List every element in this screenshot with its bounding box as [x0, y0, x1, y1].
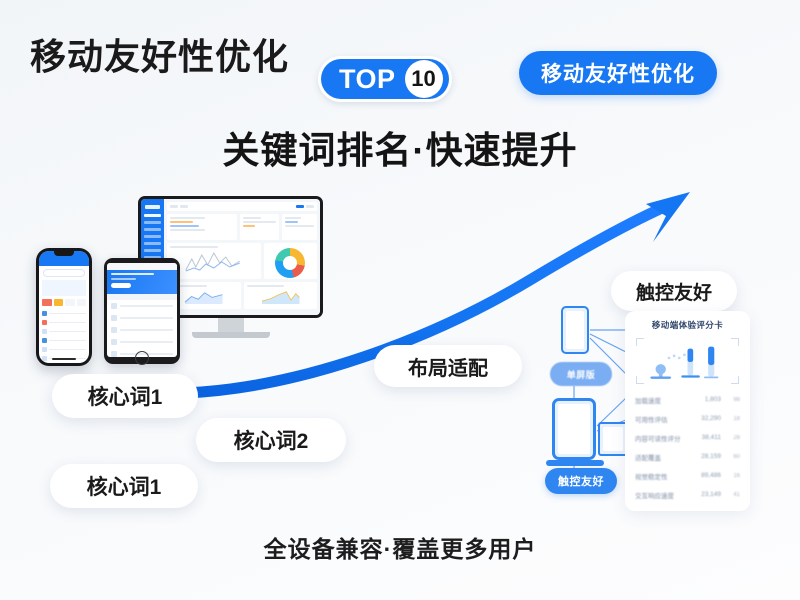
dashboard-card — [240, 214, 278, 240]
scorecard-row-value: 23,149 — [701, 491, 721, 498]
scorecard-row: 内容可读性评分 38,411 28 — [634, 428, 741, 447]
footer-tagline: 全设备兼容·覆盖更多用户 — [0, 530, 800, 564]
scorecard-row-label: 适配覆盖 — [635, 452, 697, 462]
illustration-phone-large — [552, 398, 596, 460]
scorecard-row-label: 视觉稳定性 — [635, 471, 697, 481]
illustration-tablet-screen — [603, 427, 623, 451]
scorecard-row-pct: 60 — [725, 454, 740, 460]
dashboard-area-chart — [244, 282, 318, 309]
tablet-banner — [107, 270, 177, 294]
phone-search-bar — [43, 269, 85, 277]
sidebar-nav-item — [144, 214, 161, 217]
phone-device — [36, 248, 92, 366]
tablet-list-item — [107, 324, 177, 336]
scorecard-row: 可用性评估 32,290 18 — [634, 409, 741, 428]
tablet-list-item — [107, 312, 177, 324]
dashboard-donut-chart — [264, 243, 317, 279]
scorecard-row: 视觉稳定性 89,486 16 — [634, 466, 741, 485]
sidebar-nav-item — [144, 249, 161, 252]
tablet-device — [104, 258, 180, 364]
phone-promo-banner — [42, 280, 86, 296]
top-badge-word: TOP — [339, 64, 396, 95]
scorecard-row-pct: 41 — [725, 492, 740, 498]
scorecard-row-pct: 16 — [725, 473, 740, 479]
top-badge-circle: 10 — [405, 60, 443, 98]
keyword-pill-core1-bottom[interactable]: 核心词1 — [50, 464, 198, 508]
sidebar-nav-item — [144, 235, 161, 238]
scorecard-row-value: 38,411 — [702, 434, 721, 441]
illustration-phone-small — [561, 306, 589, 354]
keyword-pill-core1-top[interactable]: 核心词1 — [52, 374, 198, 418]
line-chart-svg — [170, 250, 258, 272]
feature-pill-layout[interactable]: 布局适配 — [374, 345, 522, 387]
phone-chip — [54, 299, 64, 306]
scorecard-title: 移动端体验评分卡 — [634, 319, 741, 331]
scorecard-row-label: 内容可读性评分 — [635, 433, 698, 443]
illustration-pill-split: 单屏版 — [550, 362, 612, 386]
dashboard-card-row — [167, 282, 317, 309]
topbar-item — [306, 205, 314, 208]
donut-chart — [275, 248, 305, 278]
topbar-item — [180, 205, 188, 208]
phone-list-item — [39, 309, 89, 318]
phone-screen — [39, 251, 89, 363]
scorecard-row-label: 加载速度 — [635, 395, 701, 405]
phone-notch — [54, 251, 74, 256]
tablet-list-item — [107, 300, 177, 312]
scorecard-rows: 加载速度 1,803 98 可用性评估 32,290 18 内容可读性评分 38… — [634, 390, 741, 504]
device-cluster — [28, 196, 328, 366]
sidebar-nav-item — [144, 242, 161, 245]
phone-list-item — [39, 318, 89, 327]
phone-chip-row — [39, 296, 89, 309]
illustration-phone-screen — [558, 404, 590, 454]
dashboard-topbar — [167, 202, 317, 211]
scorecard-row: 交互响应速度 23,149 41 — [634, 485, 741, 504]
mobile-scorecard: 移动端体验评分卡 — [625, 311, 750, 511]
phone-list-item — [39, 336, 89, 345]
tablet-statusbar — [107, 263, 177, 270]
dashboard-card — [282, 214, 317, 240]
dashboard-card-row — [167, 243, 317, 279]
phone-chip — [42, 299, 52, 306]
sidebar-nav-item — [144, 221, 161, 224]
bar-chart-svg — [636, 338, 739, 384]
scorecard-row-value: 1,803 — [705, 396, 721, 403]
tablet-screen — [107, 263, 177, 357]
scorecard-row-pct: 98 — [725, 397, 740, 403]
mobile-experience-illustration: 单屏版 触控友好 移动端体验评分卡 — [540, 300, 770, 515]
keyword-pill-core2[interactable]: 核心词2 — [196, 418, 346, 462]
scorecard-row-label: 交互响应速度 — [635, 490, 697, 500]
illustration-phone-screen — [566, 311, 584, 349]
poster-canvas: 移动友好性优化 TOP 10 移动友好性优化 关键词排名·快速提升 — [0, 0, 800, 600]
phone-list-item — [39, 327, 89, 336]
top-rank-badge: TOP 10 — [318, 56, 452, 102]
tablet-banner-button — [111, 283, 131, 288]
phone-home-indicator — [52, 358, 76, 360]
monitor-base — [192, 332, 270, 338]
phone-chip — [77, 299, 87, 306]
topbar-item-active — [296, 205, 304, 208]
dashboard-card — [167, 214, 237, 240]
phone-list-item — [39, 345, 89, 354]
header-tag-pill: 移动友好性优化 — [519, 51, 717, 95]
dashboard-line-chart — [167, 243, 261, 279]
scorecard-row-label: 可用性评估 — [635, 414, 697, 424]
tablet-list-item — [107, 336, 177, 348]
scorecard-row-pct: 18 — [725, 416, 740, 422]
area-chart-svg — [170, 289, 238, 304]
topbar-item — [170, 205, 178, 208]
tablet-home-button — [135, 351, 149, 365]
sidebar-nav-item — [144, 228, 161, 231]
area-chart-svg — [247, 289, 315, 304]
illustration-tablet-small — [598, 422, 628, 456]
dashboard-card-row — [167, 214, 317, 240]
phone-chip — [65, 299, 75, 306]
scorecard-row-value: 32,290 — [701, 415, 721, 422]
top-badge-inner: TOP 10 — [321, 59, 449, 99]
dashboard-content — [164, 199, 320, 315]
scorecard-row: 加载速度 1,803 98 — [634, 390, 741, 409]
scorecard-row-value: 28,159 — [701, 453, 721, 460]
dashboard-logo — [145, 205, 160, 209]
page-title: 移动友好性优化 — [30, 28, 289, 80]
scorecard-row-pct: 28 — [725, 435, 740, 441]
illustration-pill-touch: 触控友好 — [545, 468, 617, 494]
scorecard-row-value: 89,486 — [701, 472, 721, 479]
monitor-neck — [218, 318, 244, 332]
top-badge-number: 10 — [411, 66, 435, 92]
scorecard-bar-chart — [636, 338, 739, 384]
illustration-device-stand — [546, 460, 604, 466]
scorecard-row: 适配覆盖 28,159 60 — [634, 447, 741, 466]
